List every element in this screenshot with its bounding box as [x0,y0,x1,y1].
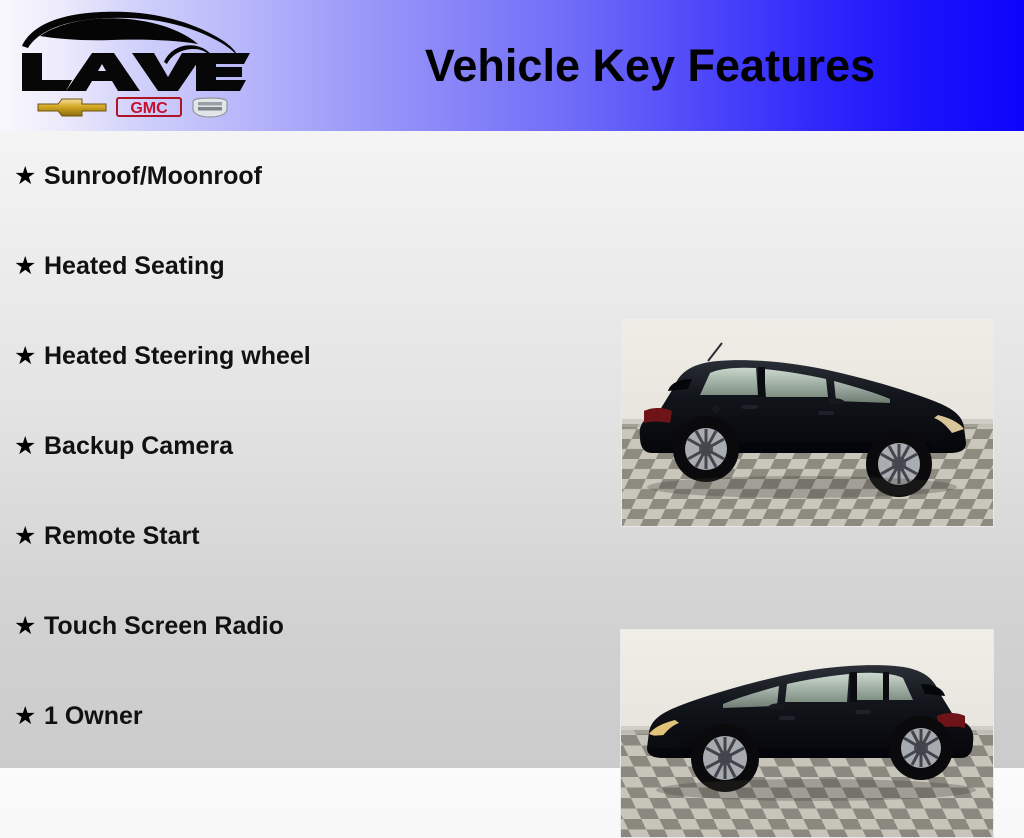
cadillac-badge [190,96,230,118]
list-item: ★ Remote Start [0,491,600,581]
page-header: GMC Vehicle Key Features [0,0,1024,131]
gmc-badge: GMC [116,96,182,118]
feature-label: Heated Seating [44,252,225,281]
list-item: ★ 1 Owner [0,671,600,761]
list-item: ★ Heated Steering wheel [0,311,600,401]
feature-list: ★ Sunroof/Moonroof ★ Heated Seating ★ He… [0,131,600,761]
feature-label: Remote Start [44,522,200,551]
star-icon: ★ [14,614,44,639]
page-content: ★ Sunroof/Moonroof ★ Heated Seating ★ He… [0,131,1024,768]
chevrolet-badge [36,96,108,118]
list-item: ★ Heated Seating [0,221,600,311]
vehicle-photo-bottom-image [621,630,993,837]
dealer-logo: GMC [14,6,259,126]
feature-label: Touch Screen Radio [44,612,284,641]
star-icon: ★ [14,704,44,729]
feature-label: Sunroof/Moonroof [44,162,262,191]
star-icon: ★ [14,254,44,279]
feature-label: Heated Steering wheel [44,342,311,371]
list-item: ★ Backup Camera [0,401,600,491]
star-icon: ★ [14,344,44,369]
vehicle-photo-driver-side [620,629,994,838]
vehicle-photo-passenger-side [621,318,994,527]
list-item: ★ Sunroof/Moonroof [0,131,600,221]
vehicle-photo-top-image [622,319,993,526]
feature-label: Backup Camera [44,432,233,461]
star-icon: ★ [14,164,44,189]
list-item: ★ Touch Screen Radio [0,581,600,671]
star-icon: ★ [14,434,44,459]
svg-text:GMC: GMC [130,100,168,117]
brand-wordmark [20,50,258,94]
star-icon: ★ [14,524,44,549]
brand-badges: GMC [36,92,232,122]
feature-label: 1 Owner [44,702,143,731]
page-title: Vehicle Key Features [300,0,1000,131]
